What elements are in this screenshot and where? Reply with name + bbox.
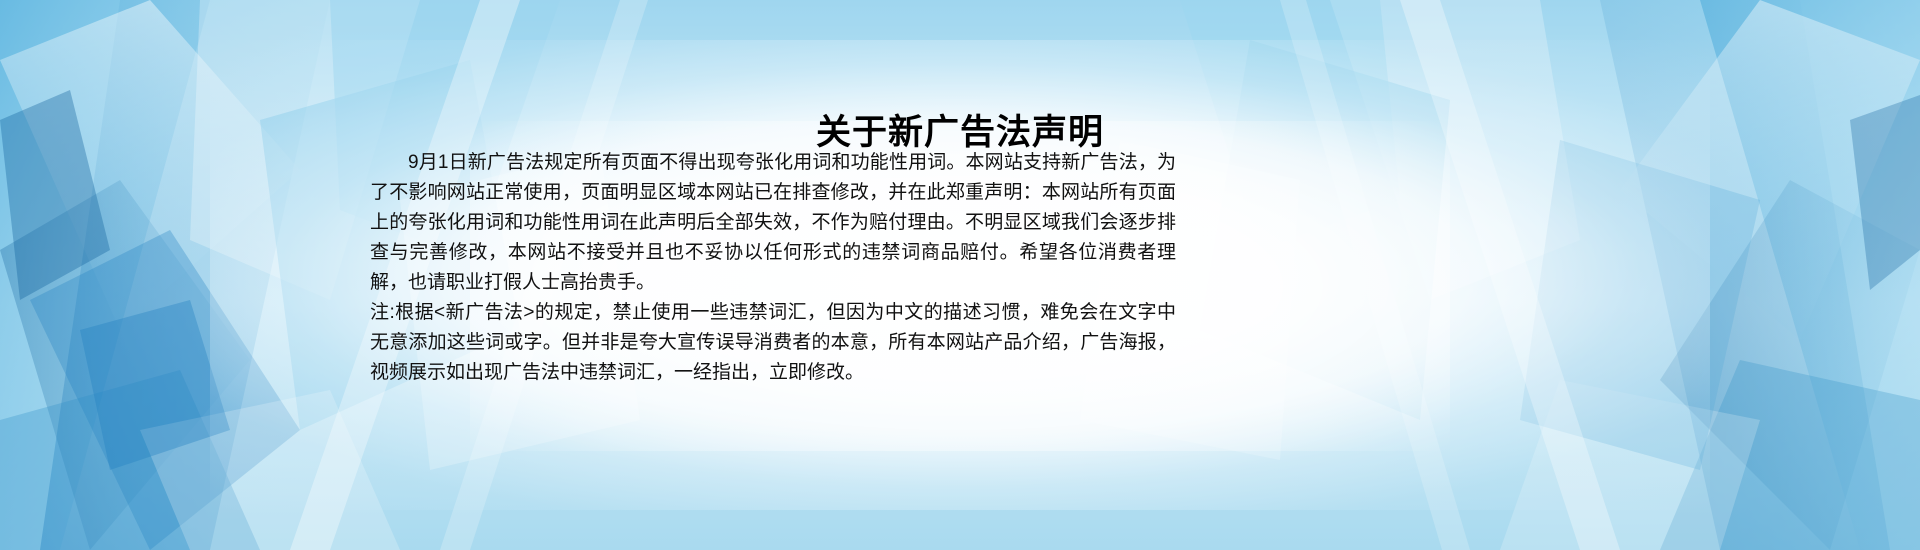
advertising-law-statement-banner: 关于新广告法声明 9月1日新广告法规定所有页面不得出现夸张化用词和功能性用词。本… — [0, 0, 1920, 550]
note-paragraph: 注:根据<新广告法>的规定，禁止使用一些违禁词汇，但因为中文的描述习惯，难免会在… — [370, 298, 1176, 388]
statement-paragraph: 9月1日新广告法规定所有页面不得出现夸张化用词和功能性用词。本网站支持新广告法，… — [370, 148, 1176, 298]
statement-body: 9月1日新广告法规定所有页面不得出现夸张化用词和功能性用词。本网站支持新广告法，… — [370, 148, 1176, 388]
statement-content: 关于新广告法声明 9月1日新广告法规定所有页面不得出现夸张化用词和功能性用词。本… — [0, 0, 1920, 550]
